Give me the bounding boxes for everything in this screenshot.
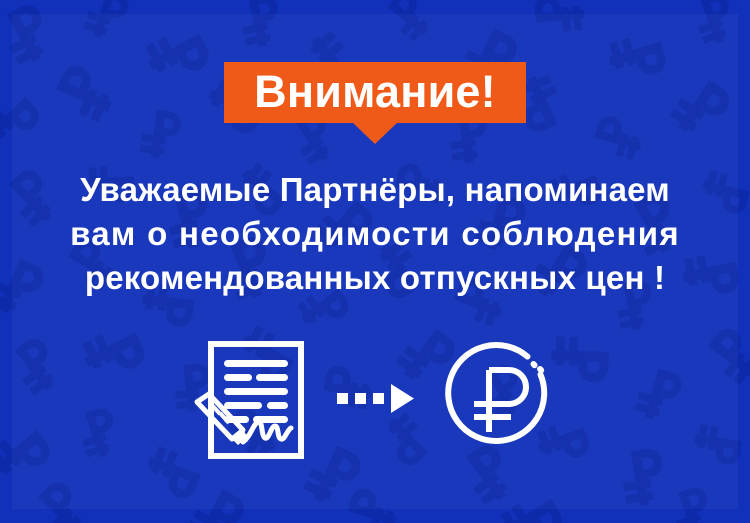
headline-message: Уважаемые Партнёры, напоминаем вам о нео… <box>0 168 750 300</box>
dots-arrow-icon <box>335 379 415 419</box>
icon-strip <box>0 338 750 460</box>
headline-line-3: рекомендованных отпускных цен ! <box>26 256 724 300</box>
notice-poster: Внимание! Уважаемые Партнёры, напоминаем… <box>0 0 750 523</box>
headline-line-2: вам о необходимости соблюдения <box>26 212 724 256</box>
attention-banner-title: Внимание! <box>254 66 496 117</box>
attention-banner-pointer <box>352 122 398 144</box>
attention-banner-box: Внимание! <box>224 62 526 123</box>
contract-signature-icon <box>191 338 309 460</box>
attention-banner: Внимание! <box>0 62 750 144</box>
headline-line-1: Уважаемые Партнёры, напоминаем <box>26 168 724 212</box>
ruble-coin-icon <box>441 338 559 460</box>
